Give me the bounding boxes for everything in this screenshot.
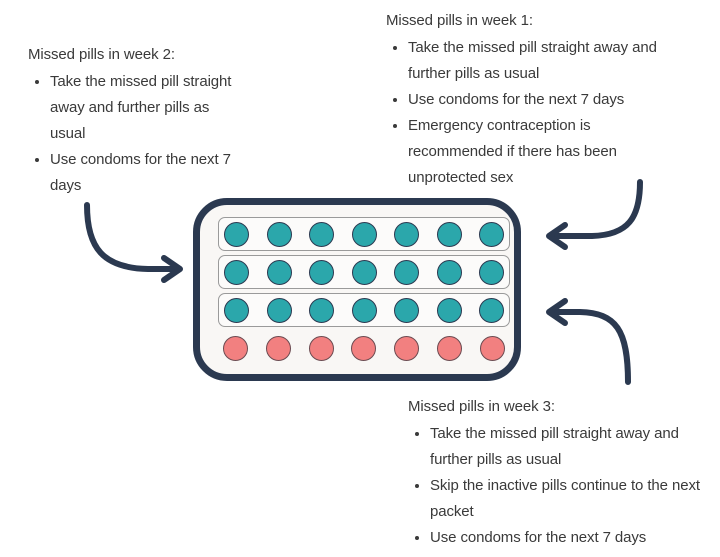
note-title-week-1: Missed pills in week 1: (386, 8, 686, 34)
pill-row-week-1 (218, 217, 510, 251)
inactive-pill (309, 336, 334, 361)
active-pill (224, 260, 249, 285)
contraceptive-pill-pack (193, 198, 521, 381)
list-item: Skip the inactive pills continue to the … (408, 473, 708, 525)
active-pill (267, 260, 292, 285)
active-pill (309, 260, 334, 285)
active-pill (437, 222, 462, 247)
arrow-week2-to-pack (87, 205, 180, 280)
active-pill (309, 298, 334, 323)
active-pill (394, 222, 419, 247)
note-missed-pills-week-1: Missed pills in week 1: Take the missed … (386, 8, 686, 191)
note-list-week-2: Take the missed pill straight away and f… (28, 69, 243, 199)
note-missed-pills-week-2: Missed pills in week 2: Take the missed … (28, 42, 243, 199)
active-pill (267, 298, 292, 323)
inactive-pill (437, 336, 462, 361)
inactive-pill (266, 336, 291, 361)
note-title-week-3: Missed pills in week 3: (408, 394, 708, 420)
active-pill (437, 260, 462, 285)
list-item: Use condoms for the next 7 days (386, 87, 686, 113)
note-missed-pills-week-3: Missed pills in week 3: Take the missed … (408, 394, 708, 551)
pill-row-week-2 (218, 255, 510, 289)
inactive-pill (351, 336, 376, 361)
list-item: Emergency contraception is recommended i… (386, 113, 686, 191)
active-pill (352, 298, 377, 323)
arrow-week3-to-pack (549, 301, 628, 382)
list-item: Use condoms for the next 7 days (28, 147, 243, 199)
active-pill (309, 222, 334, 247)
arrow-week1-to-pack (549, 182, 640, 247)
active-pill (352, 260, 377, 285)
active-pill (394, 298, 419, 323)
active-pill (394, 260, 419, 285)
active-pill (479, 260, 504, 285)
pill-row-week-3 (218, 293, 510, 327)
active-pill (479, 222, 504, 247)
active-pill (479, 298, 504, 323)
pill-row-inactive (218, 331, 510, 365)
list-item: Take the missed pill straight away and f… (28, 69, 243, 147)
active-pill (267, 222, 292, 247)
note-list-week-1: Take the missed pill straight away and f… (386, 35, 686, 191)
list-item: Take the missed pill straight away and f… (386, 35, 686, 87)
active-pill (437, 298, 462, 323)
inactive-pill (223, 336, 248, 361)
inactive-pill (394, 336, 419, 361)
list-item: Use condoms for the next 7 days (408, 525, 708, 551)
active-pill (352, 222, 377, 247)
note-title-week-2: Missed pills in week 2: (28, 42, 243, 68)
active-pill (224, 222, 249, 247)
active-pill (224, 298, 249, 323)
inactive-pill (480, 336, 505, 361)
list-item: Take the missed pill straight away and f… (408, 421, 708, 473)
note-list-week-3: Take the missed pill straight away and f… (408, 421, 708, 551)
